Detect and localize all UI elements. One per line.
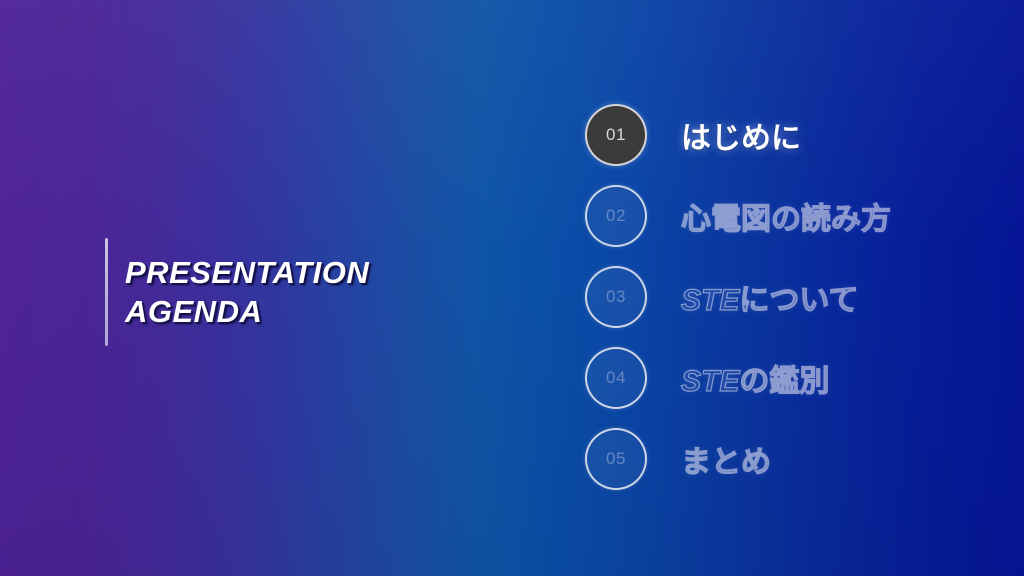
agenda-item-01[interactable]: 01 はじめに (585, 94, 891, 175)
agenda-number-02: 02 (606, 206, 626, 226)
agenda-item-05[interactable]: 05 まとめ (585, 418, 891, 499)
agenda-label-text-03: について (739, 284, 858, 317)
agenda-number-05: 05 (606, 449, 626, 469)
agenda-slide: PRESENTATION AGENDA 01 はじめに 02 心電図の読み方 0… (0, 0, 1024, 576)
agenda-label-text-02: 心電図の読み方 (681, 203, 891, 236)
title-block: PRESENTATION AGENDA (105, 238, 369, 346)
agenda-number-01: 01 (606, 125, 626, 145)
agenda-number-badge-03: 03 (585, 266, 647, 328)
title-accent-rule (105, 238, 108, 346)
agenda-number-badge-01: 01 (585, 104, 647, 166)
agenda-label-04: STEの鑑別 (681, 356, 829, 400)
agenda-number-badge-04: 04 (585, 347, 647, 409)
page-title-line-1: PRESENTATION (125, 253, 369, 292)
agenda-label-01: はじめに (681, 113, 801, 157)
agenda-label-02: 心電図の読み方 (681, 194, 891, 238)
page-title-line-2: AGENDA (125, 292, 369, 331)
agenda-label-05: まとめ (681, 437, 771, 481)
agenda-label-text-01: はじめに (681, 122, 801, 155)
agenda-number-badge-02: 02 (585, 185, 647, 247)
agenda-item-02[interactable]: 02 心電図の読み方 (585, 175, 891, 256)
agenda-label-text-05: まとめ (681, 446, 771, 479)
agenda-item-03[interactable]: 03 STEについて (585, 256, 891, 337)
agenda-item-04[interactable]: 04 STEの鑑別 (585, 337, 891, 418)
agenda-label-latin-04: STE (681, 365, 739, 398)
agenda-label-03: STEについて (681, 275, 858, 319)
agenda-number-03: 03 (606, 287, 626, 307)
agenda-list: 01 はじめに 02 心電図の読み方 03 STEについて 04 (585, 94, 891, 499)
agenda-number-04: 04 (606, 368, 626, 388)
agenda-label-latin-03: STE (681, 284, 739, 317)
agenda-number-badge-05: 05 (585, 428, 647, 490)
agenda-label-text-04: の鑑別 (739, 365, 829, 398)
